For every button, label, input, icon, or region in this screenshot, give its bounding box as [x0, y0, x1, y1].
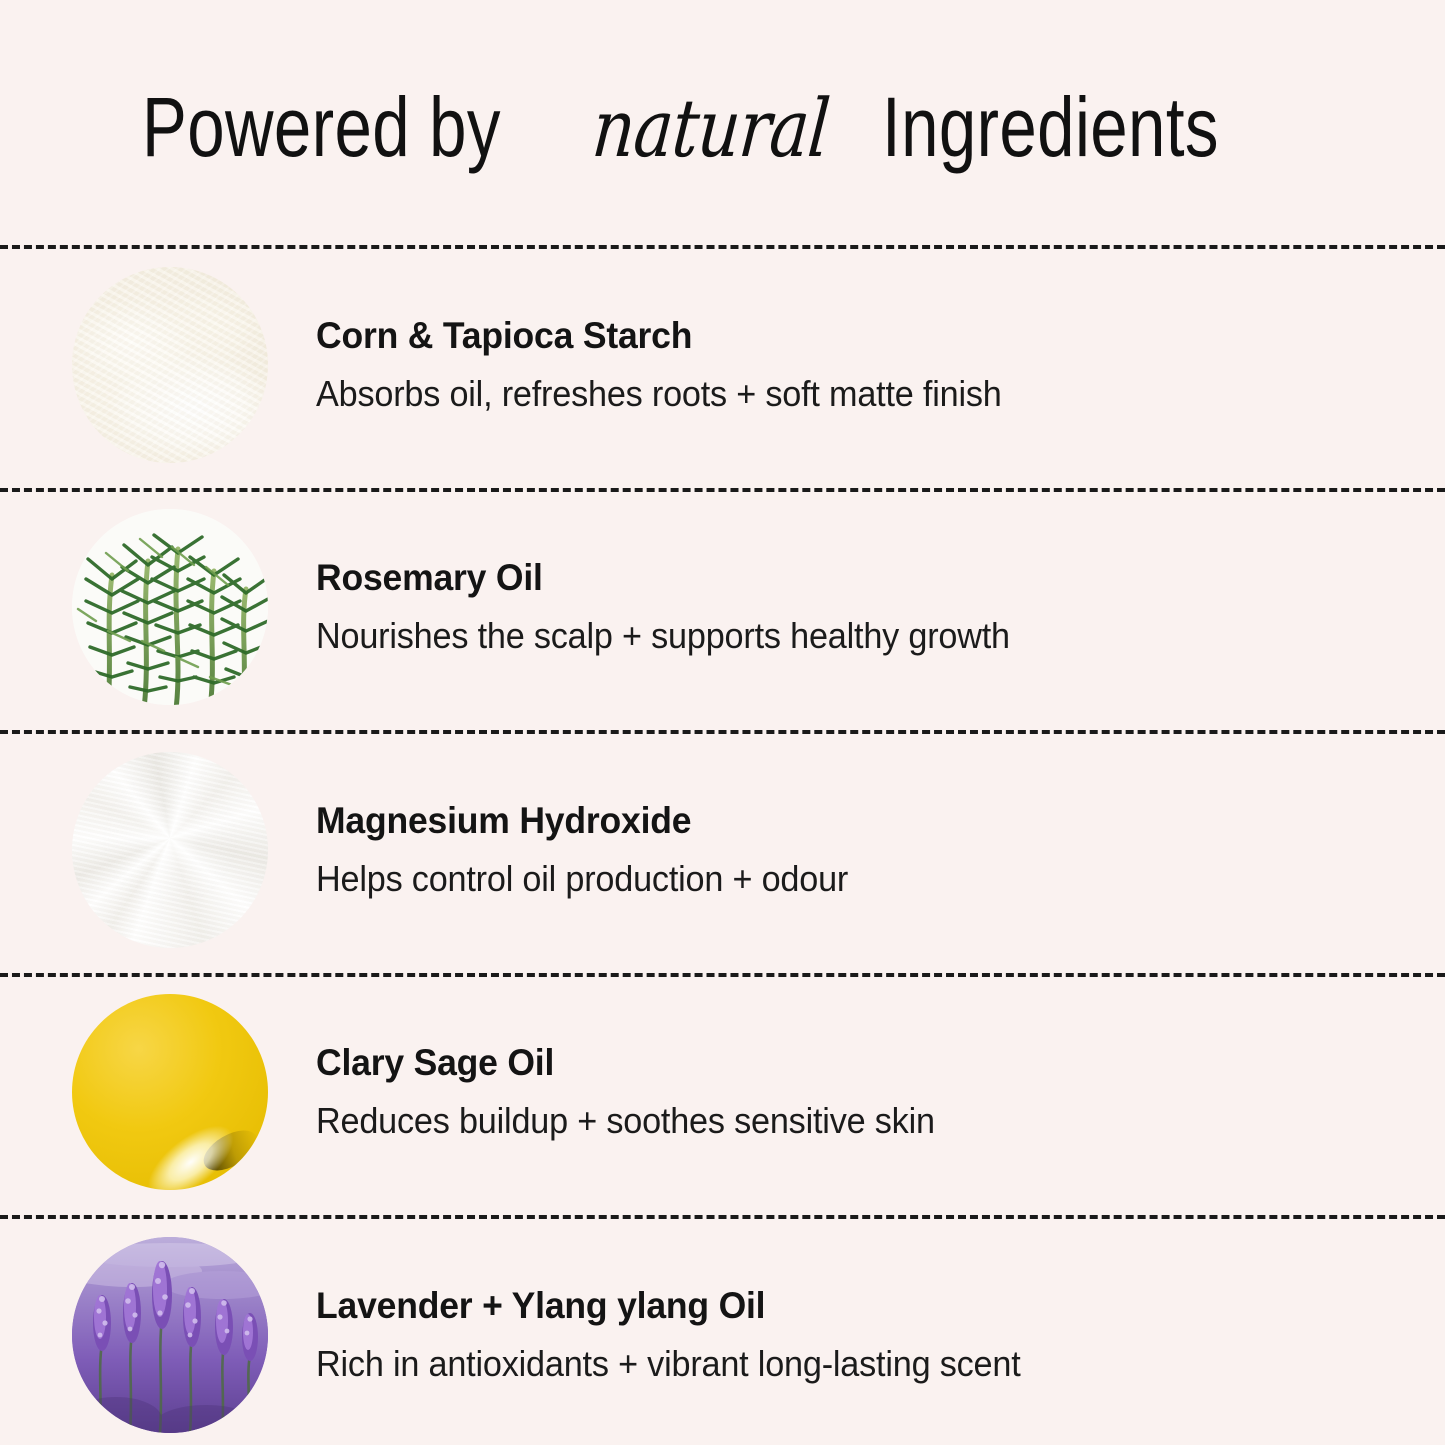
lavender-field-photo	[72, 1237, 268, 1433]
divider-5	[0, 1215, 1445, 1219]
ingredient-name: Lavender + Ylang ylang Oil	[316, 1283, 1400, 1328]
divider-2	[0, 488, 1445, 492]
title-script-word: natural	[589, 82, 833, 175]
divider-4	[0, 973, 1445, 977]
ingredient-description: Helps control oil production + odour	[316, 856, 1389, 903]
page-title: Powered by natural Ingredients	[0, 62, 1445, 192]
ingredient-row-magnesium-hydroxide: Magnesium Hydroxide Helps control oil pr…	[0, 755, 1445, 945]
rosemary-plant-photo	[72, 509, 268, 705]
ingredient-description: Rich in antioxidants + vibrant long-last…	[316, 1341, 1389, 1388]
magnesium-hydroxide-powder-photo	[72, 752, 268, 948]
divider-3	[0, 730, 1445, 734]
ingredient-name: Clary Sage Oil	[316, 1040, 1400, 1085]
corn-tapioca-starch-photo	[72, 267, 268, 463]
ingredient-row-rosemary-oil: Rosemary Oil Nourishes the scalp + suppo…	[0, 512, 1445, 702]
ingredient-row-clary-sage-oil: Clary Sage Oil Reduces buildup + soothes…	[0, 997, 1445, 1187]
ingredients-infographic: Powered by natural Ingredients Corn & Ta…	[0, 0, 1445, 1445]
ingredient-name: Magnesium Hydroxide	[316, 798, 1400, 843]
title-prefix: Powered by	[142, 79, 501, 176]
ingredient-description: Reduces buildup + soothes sensitive skin	[316, 1098, 1389, 1145]
divider-1	[0, 245, 1445, 249]
clary-sage-oil-drop-photo	[72, 994, 268, 1190]
ingredient-description: Nourishes the scalp + supports healthy g…	[316, 613, 1389, 660]
ingredient-row-corn-tapioca-starch: Corn & Tapioca Starch Absorbs oil, refre…	[0, 270, 1445, 460]
title-suffix: Ingredients	[882, 79, 1219, 176]
ingredient-description: Absorbs oil, refreshes roots + soft matt…	[316, 371, 1389, 418]
oil-highlight-glint	[197, 1123, 264, 1180]
ingredient-row-lavender-ylang-ylang-oil: Lavender + Ylang ylang Oil Rich in antio…	[0, 1240, 1445, 1430]
ingredient-name: Corn & Tapioca Starch	[316, 313, 1400, 358]
ingredient-name: Rosemary Oil	[316, 555, 1400, 600]
